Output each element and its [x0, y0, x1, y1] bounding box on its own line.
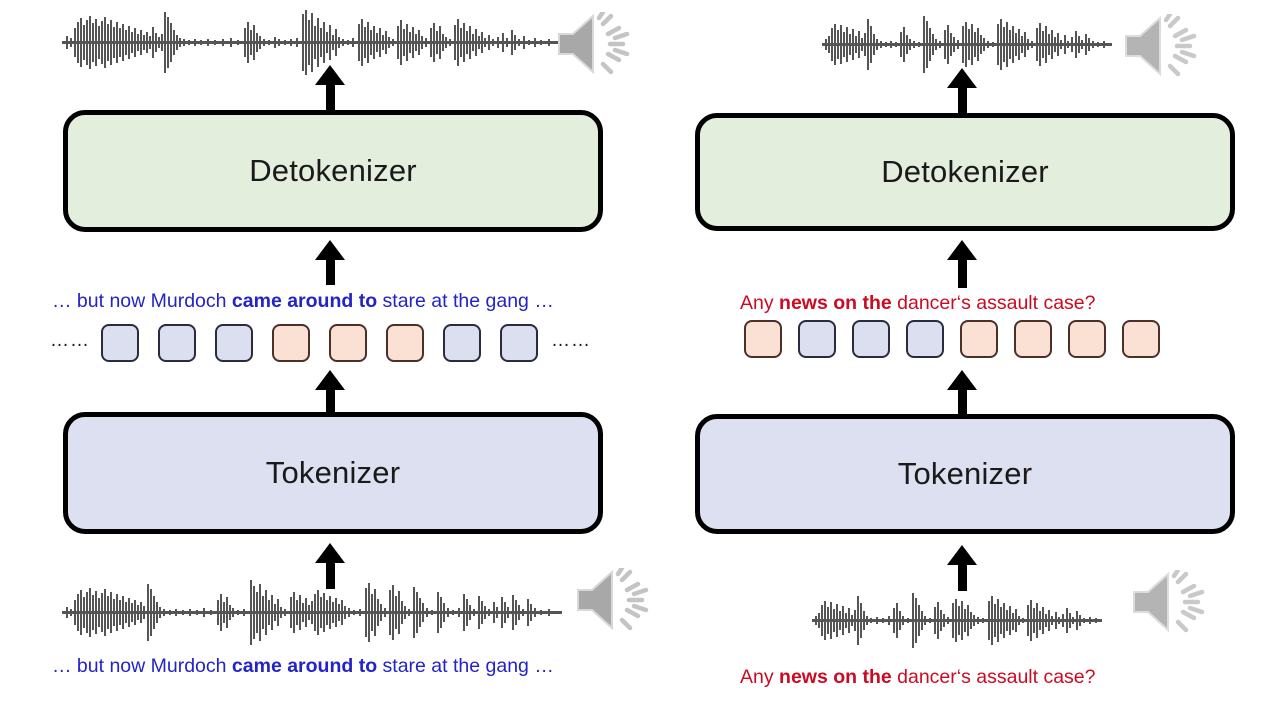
token-box[interactable] — [215, 324, 253, 362]
transcript-bold: came around to — [232, 290, 377, 312]
tokenizer-box-right[interactable]: Tokenizer — [695, 414, 1235, 534]
left-example-panel: Detokenizer … but now Murdoch came aroun… — [0, 0, 660, 720]
tokenizer-label: Tokenizer — [266, 455, 400, 491]
arrow-up-icon-detok-out-right — [947, 68, 977, 113]
token-box[interactable] — [158, 324, 196, 362]
transcript-bottom-right: Any news on the dancer‘s assault case? — [740, 666, 1096, 689]
detokenizer-label: Detokenizer — [249, 153, 417, 189]
transcript-suffix: dancer‘s assault case? — [892, 666, 1096, 688]
token-box[interactable] — [101, 324, 139, 362]
input-waveform-left — [62, 578, 562, 648]
ellipsis-right: …… — [551, 331, 591, 356]
token-box[interactable] — [443, 324, 481, 362]
token-box[interactable] — [386, 324, 424, 362]
tokenizer-box-left[interactable]: Tokenizer — [63, 412, 603, 534]
arrow-up-icon-tok-tokens-left — [315, 370, 345, 412]
token-box[interactable] — [1068, 320, 1106, 358]
transcript-middle-right: Any news on the dancer‘s assault case? — [740, 292, 1096, 315]
transcript-bold: news on the — [779, 292, 892, 314]
token-box[interactable] — [272, 324, 310, 362]
detokenizer-box-left[interactable]: Detokenizer — [63, 110, 603, 232]
tokenizer-label: Tokenizer — [898, 456, 1032, 492]
output-waveform-right — [822, 14, 1112, 76]
speaker-icon-bottom-right — [1128, 570, 1208, 634]
input-waveform-right — [812, 590, 1102, 652]
transcript-middle-left: … but now Murdoch came around to stare a… — [52, 290, 554, 313]
transcript-bold: came around to — [232, 655, 377, 677]
arrow-up-icon-detok-out-left — [315, 65, 345, 110]
token-box[interactable] — [329, 324, 367, 362]
ellipsis-left: …… — [50, 331, 90, 356]
transcript-prefix: … but now Murdoch — [52, 290, 232, 312]
transcript-suffix: dancer‘s assault case? — [892, 292, 1096, 314]
arrow-up-icon-tokens-detok-left — [315, 240, 345, 285]
transcript-prefix: … but now Murdoch — [52, 655, 232, 677]
waveform-icon — [62, 8, 562, 78]
token-box[interactable] — [852, 320, 890, 358]
speaker-icon-top-left — [553, 12, 633, 76]
transcript-suffix: stare at the gang … — [377, 655, 554, 677]
output-waveform-left — [62, 8, 562, 78]
token-box[interactable] — [500, 324, 538, 362]
token-box[interactable] — [960, 320, 998, 358]
transcript-prefix: Any — [740, 292, 779, 314]
arrow-up-icon-tok-tokens-right — [947, 370, 977, 414]
detokenizer-label: Detokenizer — [881, 154, 1049, 190]
arrow-up-icon-in-tok-right — [947, 545, 977, 591]
speaker-icon-top-right — [1120, 14, 1200, 78]
token-box[interactable] — [906, 320, 944, 358]
token-row-left: …… …… — [50, 324, 591, 362]
token-box[interactable] — [1122, 320, 1160, 358]
transcript-suffix: stare at the gang … — [377, 290, 554, 312]
transcript-prefix: Any — [740, 666, 779, 688]
speaker-icon-bottom-left — [572, 568, 652, 632]
right-example-panel: Detokenizer Any news on the dancer‘s ass… — [660, 0, 1280, 720]
transcript-bottom-left: … but now Murdoch came around to stare a… — [52, 655, 554, 678]
token-row-right — [744, 320, 1160, 358]
arrow-up-icon-tokens-detok-right — [947, 240, 977, 288]
token-box[interactable] — [744, 320, 782, 358]
token-box[interactable] — [1014, 320, 1052, 358]
token-box[interactable] — [798, 320, 836, 358]
transcript-bold: news on the — [779, 666, 892, 688]
detokenizer-box-right[interactable]: Detokenizer — [695, 113, 1235, 231]
